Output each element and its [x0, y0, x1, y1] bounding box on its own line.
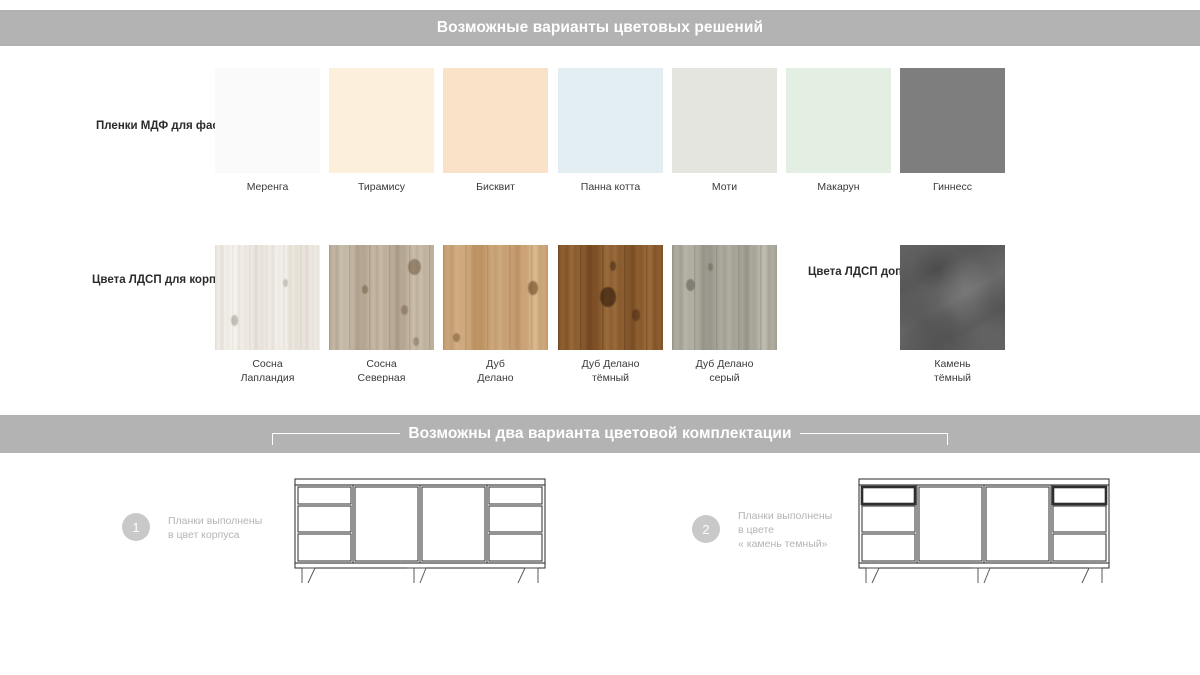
- swatch-makarun[interactable]: Макарун: [786, 68, 891, 173]
- row-label-ldsp-body: Цвета ЛДСП для корпуса: [92, 267, 235, 294]
- swatch-chip-merenga: [215, 68, 320, 173]
- swatch-merenga[interactable]: Меренга: [215, 68, 320, 173]
- swatch-moti[interactable]: Моти: [672, 68, 777, 173]
- swatch-chip-biskvit: [443, 68, 548, 173]
- option-2-description: Планки выполнены в цвете « камень темный…: [738, 509, 832, 551]
- swatch-caption: Панна котта: [546, 180, 675, 194]
- swatch-chip-moti: [672, 68, 777, 173]
- swatch-biskvit[interactable]: Бисквит: [443, 68, 548, 173]
- colour-options-sheet: Возможные варианты цветовых решений Плен…: [0, 0, 1200, 675]
- swatch-chip-panna-kotta: [558, 68, 663, 173]
- swatch-ginness[interactable]: Гиннесс: [900, 68, 1005, 173]
- sideboard-drawing-variant-1: [292, 474, 548, 584]
- wood-texture: [329, 245, 434, 350]
- swatch-chip-tiramisu: [329, 68, 434, 173]
- swatch-caption: Гиннесс: [888, 180, 1017, 194]
- swatch-caption: Камень тёмный: [888, 357, 1017, 385]
- swatch-sosna-severnaya[interactable]: Сосна Северная: [329, 245, 434, 350]
- swatch-sosna-laplandiya[interactable]: Сосна Лапландия: [215, 245, 320, 350]
- swatch-chip-sosna-laplandiya: [215, 245, 320, 350]
- wood-texture: [215, 245, 320, 350]
- swatch-chip-dub-delano-seryi: [672, 245, 777, 350]
- swatch-chip-makarun: [786, 68, 891, 173]
- banner-top-title: Возможные варианты цветовых решений: [437, 19, 763, 37]
- wood-texture: [558, 245, 663, 350]
- swatch-dub-delano-seryi[interactable]: Дуб Делано серый: [672, 245, 777, 350]
- swatch-chip-sosna-severnaya: [329, 245, 434, 350]
- bracket-rule-right: [800, 433, 948, 445]
- swatch-caption: Меренга: [203, 180, 332, 194]
- swatch-panna-kotta[interactable]: Панна котта: [558, 68, 663, 173]
- section-banner-colour-options: Возможные варианты цветовых решений: [0, 10, 1200, 46]
- stone-texture: [900, 245, 1005, 350]
- swatch-caption: Дуб Делано тёмный: [546, 357, 675, 385]
- wood-texture: [672, 245, 777, 350]
- swatch-kamen-temnyi[interactable]: Камень тёмный: [900, 245, 1005, 350]
- wood-texture: [443, 245, 548, 350]
- option-2-badge: 2: [692, 515, 720, 543]
- swatch-caption: Сосна Лапландия: [203, 357, 332, 385]
- option-2-number: 2: [702, 522, 709, 537]
- swatch-dub-delano[interactable]: Дуб Делано: [443, 245, 548, 350]
- swatch-caption: Бисквит: [431, 180, 560, 194]
- swatch-caption: Макарун: [774, 180, 903, 194]
- swatch-tiramisu[interactable]: Тирамису: [329, 68, 434, 173]
- swatch-caption: Моти: [660, 180, 789, 194]
- option-1-description: Планки выполнены в цвет корпуса: [168, 514, 262, 542]
- swatch-chip-dub-delano: [443, 245, 548, 350]
- swatch-caption: Сосна Северная: [317, 357, 446, 385]
- section-banner-two-variants: Возможны два варианта цветовой комплекта…: [0, 415, 1200, 453]
- banner-bottom-title: Возможны два варианта цветовой комплекта…: [408, 425, 791, 443]
- swatch-chip-ginness: [900, 68, 1005, 173]
- option-1-number: 1: [132, 520, 139, 535]
- swatch-chip-dub-delano-temnyi: [558, 245, 663, 350]
- swatch-caption: Дуб Делано: [431, 357, 560, 385]
- swatch-caption: Тирамису: [317, 180, 446, 194]
- swatch-chip-kamen-temnyi: [900, 245, 1005, 350]
- swatch-caption: Дуб Делано серый: [660, 357, 789, 385]
- option-1-badge: 1: [122, 513, 150, 541]
- swatch-dub-delano-temnyi[interactable]: Дуб Делано тёмный: [558, 245, 663, 350]
- sideboard-drawing-variant-2: [856, 474, 1112, 584]
- bracket-rule-left: [272, 433, 400, 445]
